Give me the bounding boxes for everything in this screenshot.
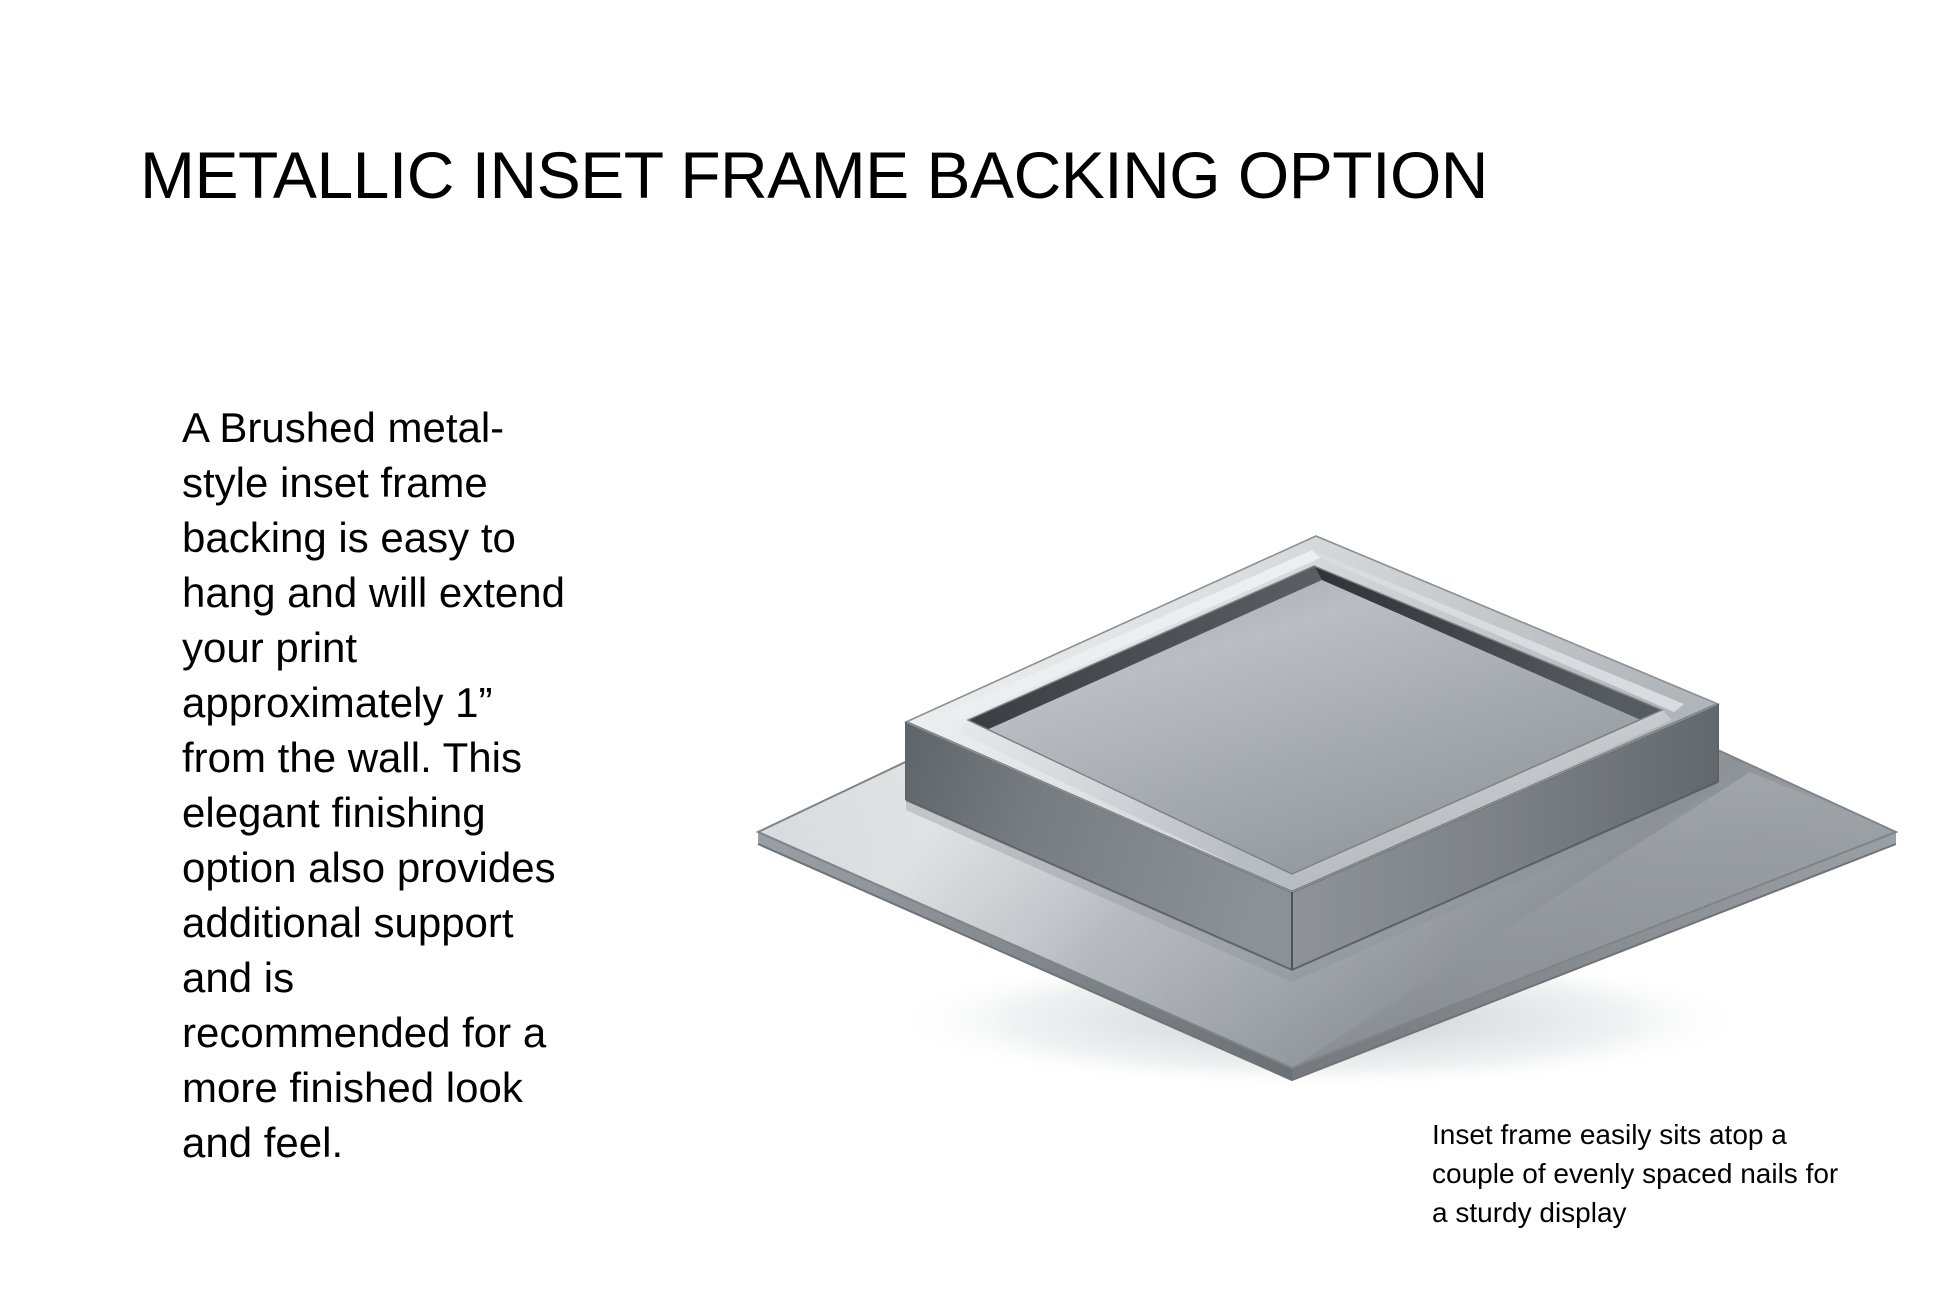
inset-frame-illustration <box>700 380 1910 1100</box>
photo-caption: Inset frame easily sits atop a couple of… <box>1432 1115 1852 1232</box>
product-photo <box>700 380 1910 1100</box>
page-title: METALLIC INSET FRAME BACKING OPTION <box>140 140 1840 211</box>
slide-canvas: METALLIC INSET FRAME BACKING OPTION A Br… <box>0 0 1946 1297</box>
body-paragraph: A Brushed metal-style inset frame backin… <box>182 400 574 1170</box>
